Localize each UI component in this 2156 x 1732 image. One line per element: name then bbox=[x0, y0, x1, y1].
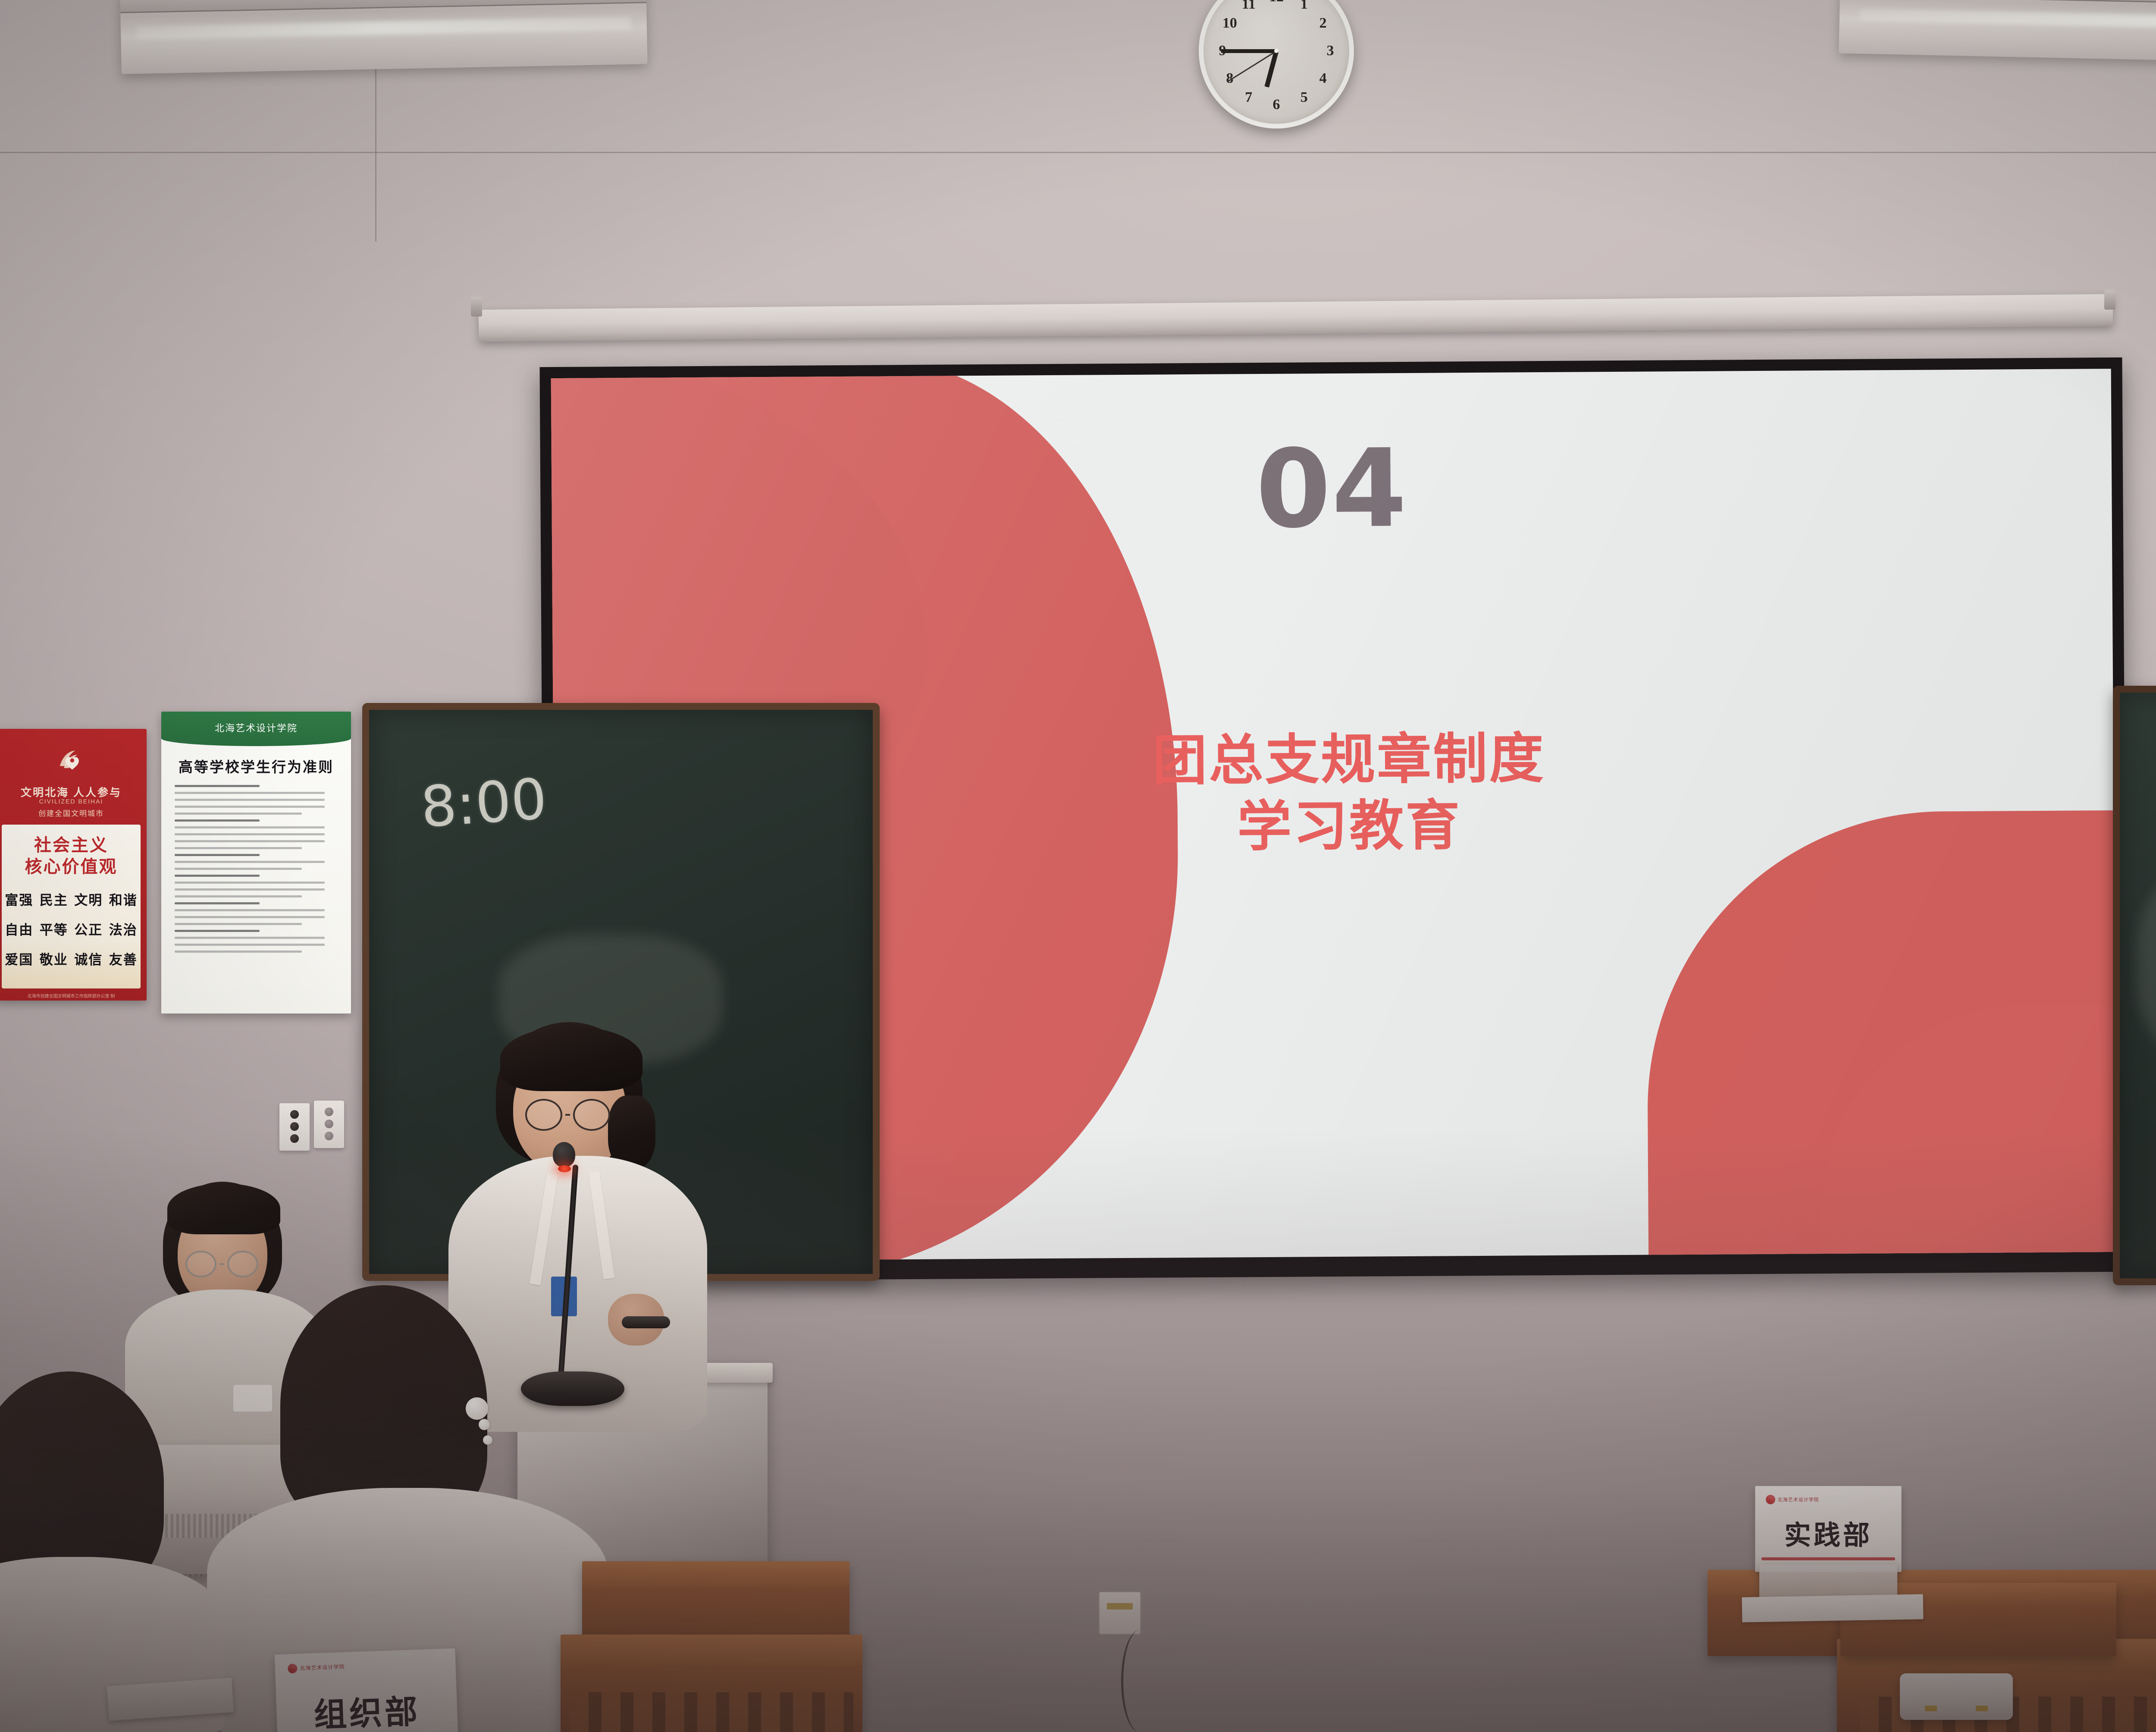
value-word: 文明 bbox=[74, 889, 103, 909]
poster-values-card: 社会主义 核心价值观 富强 民主 文明 和谐 自由 平等 公正 法治 爱国 敬业 bbox=[2, 825, 141, 988]
value-word: 敬业 bbox=[40, 949, 68, 968]
glasses-bridge bbox=[565, 1114, 570, 1116]
clock-center-pin bbox=[1274, 49, 1279, 53]
poster-values-subheading: 创建全国文明城市 bbox=[0, 807, 147, 818]
poster-values-card-title-1: 社会主义 bbox=[2, 835, 141, 856]
light-tube bbox=[1860, 9, 2156, 35]
university-name: 北海艺术设计学院 bbox=[161, 721, 351, 734]
clock-number-11: 11 bbox=[1242, 0, 1256, 13]
value-word: 诚信 bbox=[74, 949, 103, 968]
wall-bottom-shading bbox=[0, 1128, 2156, 1732]
glasses-lens-right bbox=[573, 1099, 610, 1131]
clock-minute-hand bbox=[1221, 49, 1276, 53]
clock-number-4: 4 bbox=[1319, 70, 1327, 87]
poster-values-footer: 北海市创建全国文明城市工作指挥部办公室 制 bbox=[0, 992, 147, 999]
poster-values-row: 爱国 敬业 诚信 友善 bbox=[2, 949, 141, 968]
value-word: 和谐 bbox=[109, 889, 138, 909]
ceiling-light-left bbox=[120, 0, 647, 74]
chalk-text-left: 8:00 bbox=[419, 766, 549, 840]
clock-number-7: 7 bbox=[1245, 89, 1252, 106]
clock-number-6: 6 bbox=[1273, 97, 1280, 113]
clock-number-3: 3 bbox=[1327, 43, 1334, 59]
glasses-lens-left bbox=[525, 1099, 562, 1131]
slide-section-number: 04 bbox=[552, 430, 2112, 548]
value-word: 平等 bbox=[40, 919, 68, 938]
light-rail bbox=[1840, 0, 2156, 10]
clock-number-1: 1 bbox=[1300, 0, 1308, 13]
value-word: 富强 bbox=[5, 889, 33, 909]
value-word: 自由 bbox=[5, 919, 33, 938]
poster-student-code-body bbox=[175, 785, 338, 957]
value-word: 民主 bbox=[40, 889, 68, 909]
switch-button[interactable] bbox=[325, 1108, 333, 1116]
value-word: 法治 bbox=[109, 919, 138, 938]
poster-student-code-of-conduct: 北海艺术设计学院 高等学校学生行为准则 bbox=[161, 712, 351, 1013]
speaker-fringe bbox=[500, 1026, 642, 1091]
roller-endcap-left bbox=[471, 297, 482, 317]
poster-values-card-title-2: 核心价值观 bbox=[2, 857, 141, 878]
poster-values-row: 富强 民主 文明 和谐 bbox=[2, 889, 141, 909]
poster-values-heading: 文明北海 人人参与 bbox=[0, 784, 147, 800]
light-rail bbox=[120, 0, 646, 13]
civilized-city-logo-icon bbox=[55, 744, 88, 776]
speaker-glasses bbox=[525, 1099, 610, 1131]
value-word: 友善 bbox=[109, 949, 138, 968]
light-tube bbox=[136, 17, 631, 39]
wall-seam-top bbox=[0, 152, 2156, 153]
poster-core-socialist-values: 文明北海 人人参与 CIVILIZED BEIHAI 创建全国文明城市 社会主义… bbox=[0, 729, 147, 1001]
value-word: 公正 bbox=[74, 919, 103, 938]
switch-button[interactable] bbox=[290, 1110, 299, 1119]
clock-number-2: 2 bbox=[1319, 15, 1327, 31]
clock-number-5: 5 bbox=[1300, 89, 1308, 106]
poster-values-row: 自由 平等 公正 法治 bbox=[2, 919, 141, 938]
poster-student-code-title: 高等学校学生行为准则 bbox=[161, 756, 351, 776]
classroom-scene: 12 1 2 3 4 5 6 7 8 9 10 11 04 团总支规章制度 学习… bbox=[0, 0, 2156, 1732]
poster-student-code-band: 北海艺术设计学院 bbox=[161, 712, 351, 746]
chalk-smudge-right bbox=[2137, 874, 2156, 1055]
poster-values-heading-en: CIVILIZED BEIHAI bbox=[0, 798, 147, 805]
roller-endcap-right bbox=[2104, 290, 2115, 310]
clock-number-10: 10 bbox=[1222, 15, 1237, 31]
value-word: 爱国 bbox=[5, 949, 33, 968]
slide-title-line-1: 团总支规章制度 bbox=[1153, 727, 1545, 793]
clock-number-12: 12 bbox=[1269, 0, 1284, 5]
switch-button[interactable] bbox=[325, 1120, 333, 1128]
poster-values-row-group: 富强 民主 文明 和谐 自由 平等 公正 法治 爱国 敬业 诚信 友善 bbox=[2, 889, 141, 968]
